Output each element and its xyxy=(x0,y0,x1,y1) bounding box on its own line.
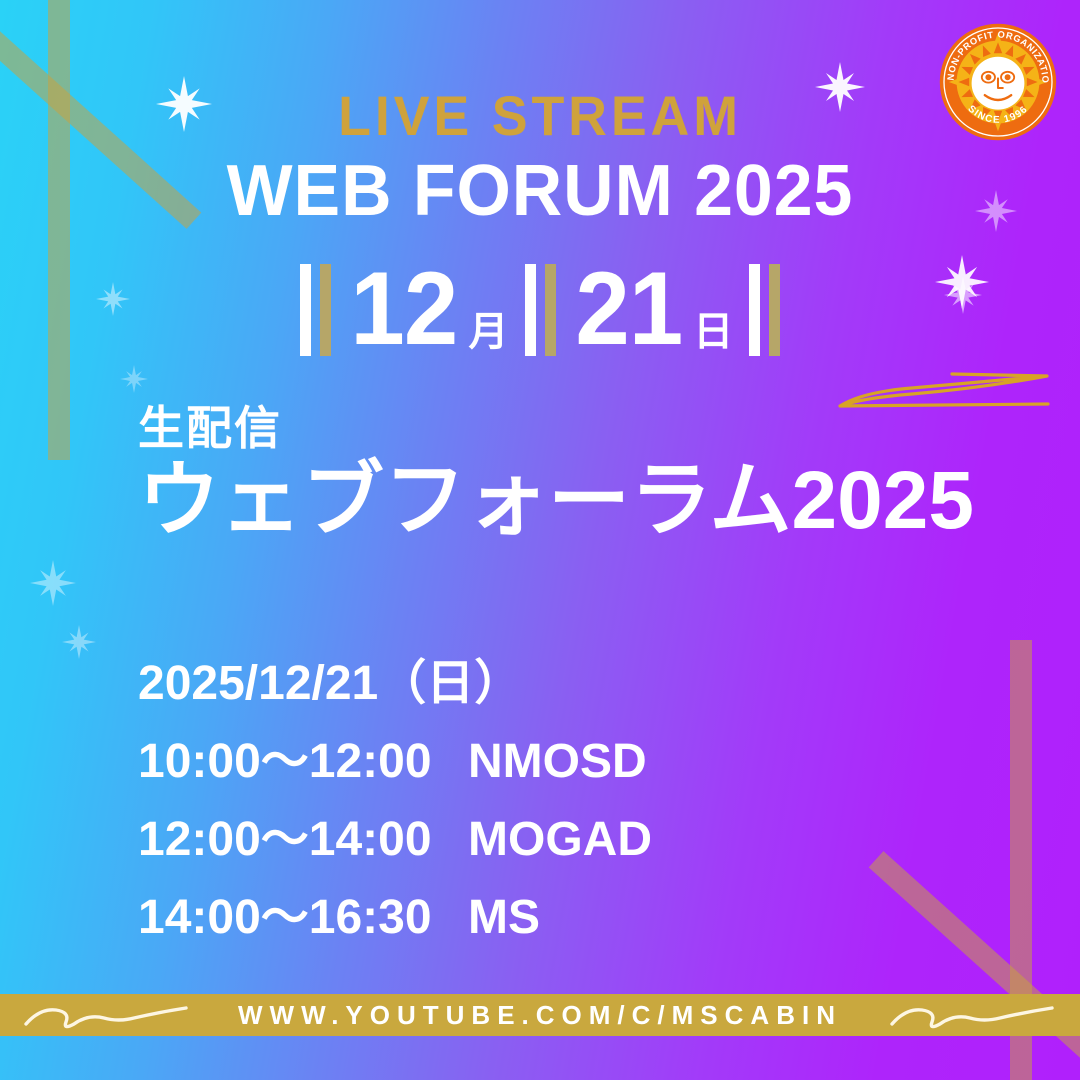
divider-bar-gold xyxy=(769,264,780,356)
divider-bar-white xyxy=(300,264,311,356)
subtitle-small: 生配信 xyxy=(138,405,282,451)
schedule-row: 12:00〜14:00 MOGAD xyxy=(138,816,652,864)
schedule-row: 10:00〜12:00 NMOSD xyxy=(138,738,652,786)
schedule-row: 14:00〜16:30 MS xyxy=(138,894,652,942)
schedule-block: 2025/12/21（日） 10:00〜12:00 NMOSD 12:00〜14… xyxy=(138,660,652,972)
date-divider-right xyxy=(749,264,780,356)
sparkle-icon xyxy=(30,560,76,606)
schedule-time: 12:00〜14:00 xyxy=(138,816,468,864)
schedule-time: 14:00〜16:30 xyxy=(138,894,468,942)
date-divider-middle xyxy=(525,264,556,356)
schedule-date: 2025/12/21（日） xyxy=(138,660,652,708)
schedule-topic: MOGAD xyxy=(468,816,652,864)
event-date-row: 12 月 21 日 xyxy=(0,255,1080,365)
sparkle-icon xyxy=(120,365,148,393)
subtitle-large: ウェブフォーラム2025 xyxy=(138,458,974,544)
schedule-topic: MS xyxy=(468,894,540,942)
squiggle-decoration-left xyxy=(22,998,192,1032)
page-title: WEB FORUM 2025 xyxy=(16,155,1064,227)
footer-url[interactable]: WWW.YOUTUBE.COM/C/MSCABIN xyxy=(238,1002,842,1028)
kicker-live-stream: LIVE STREAM xyxy=(22,88,1059,144)
footer-bar: WWW.YOUTUBE.COM/C/MSCABIN xyxy=(0,994,1080,1036)
divider-bar-gold xyxy=(320,264,331,356)
divider-bar-gold xyxy=(545,264,556,356)
date-month-unit: 月 xyxy=(461,299,509,365)
squiggle-decoration-right xyxy=(888,998,1058,1032)
date-day-value: 21 xyxy=(575,263,682,357)
schedule-topic: NMOSD xyxy=(468,738,647,786)
date-day-unit: 日 xyxy=(685,299,733,365)
schedule-time: 10:00〜12:00 xyxy=(138,738,468,786)
date-divider-left xyxy=(300,264,331,356)
poster-canvas: A NON-PROFIT ORGANIZATION SINCE 1996 LIV… xyxy=(0,0,1080,1080)
date-month-value: 12 xyxy=(350,263,457,357)
divider-bar-white xyxy=(749,264,760,356)
gold-zigzag-decoration xyxy=(832,368,1072,438)
decor-bar-top-left-vertical xyxy=(48,0,70,460)
divider-bar-white xyxy=(525,264,536,356)
sparkle-icon xyxy=(62,625,96,659)
